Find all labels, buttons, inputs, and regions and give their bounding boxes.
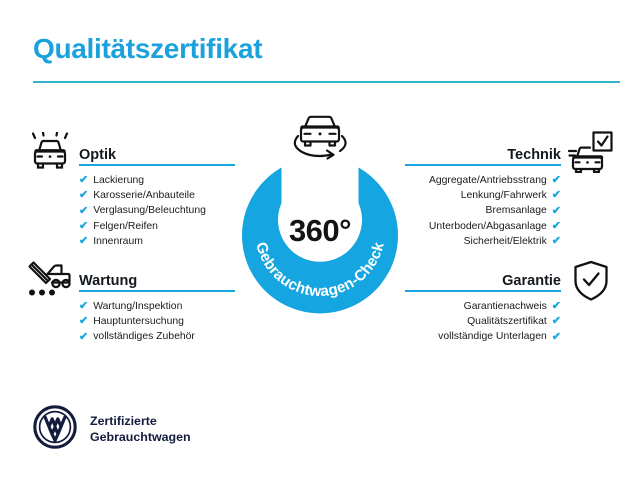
check-icon: ✔ — [552, 332, 561, 343]
check-icon: ✔ — [79, 332, 88, 343]
check-icon: ✔ — [552, 221, 561, 232]
list-item: ✔Felgen/Reifen — [79, 219, 235, 234]
list-item: Qualitätszertifikat✔ — [405, 314, 561, 329]
list-item-label: Lackierung — [93, 173, 144, 188]
list-item-label: vollständiges Zubehör — [93, 329, 195, 344]
list-item: Bremsanlage✔ — [405, 203, 561, 218]
car-shine-icon — [28, 132, 72, 179]
vw-footer-line1: Zertifizierte — [90, 414, 191, 430]
check-icon: ✔ — [79, 316, 88, 327]
vw-footer-text: Zertifizierte Gebrauchtwagen — [90, 414, 191, 445]
section-wartung: Wartung ✔Wartung/Inspektion ✔Hauptunters… — [79, 266, 235, 345]
section-garantie: Garantie Garantienachweis✔ Qualitätszert… — [405, 266, 561, 345]
list-item: ✔Innenraum — [79, 234, 235, 249]
section-optik-title: Optik — [79, 147, 116, 163]
check-icon: ✔ — [79, 190, 88, 201]
section-wartung-header: Wartung — [79, 266, 235, 290]
list-item: vollständige Unterlagen✔ — [405, 329, 561, 344]
list-item-label: Unterboden/Abgasanlage — [429, 219, 547, 234]
check-icon: ✔ — [552, 236, 561, 247]
certificate-page: Qualitätszertifikat Optik ✔Lackierung ✔K… — [0, 0, 640, 480]
car-checkbox-icon — [567, 131, 613, 178]
check-icon: ✔ — [79, 175, 88, 186]
shield-check-icon — [572, 260, 610, 307]
section-garantie-title: Garantie — [502, 273, 561, 289]
check-icon: ✔ — [79, 206, 88, 217]
list-item: ✔Karosserie/Anbauteile — [79, 188, 235, 203]
section-technik: Technik Aggregate/Antriebsstrang✔ Lenkun… — [405, 140, 561, 249]
vw-certified-footer: Zertifizierte Gebrauchtwagen — [33, 405, 191, 454]
check-icon: ✔ — [552, 316, 561, 327]
list-item: ✔Verglasung/Beleuchtung — [79, 203, 235, 218]
section-wartung-list: ✔Wartung/Inspektion ✔Hauptuntersuchung ✔… — [79, 299, 235, 345]
section-garantie-list: Garantienachweis✔ Qualitätszertifikat✔ v… — [405, 299, 561, 345]
list-item-label: Hauptuntersuchung — [93, 314, 184, 329]
check-icon: ✔ — [79, 221, 88, 232]
section-technik-divider — [405, 164, 561, 166]
section-technik-list: Aggregate/Antriebsstrang✔ Lenkung/Fahrwe… — [405, 173, 561, 249]
section-optik: Optik ✔Lackierung ✔Karosserie/Anbauteile… — [79, 140, 235, 249]
section-optik-divider — [79, 164, 235, 166]
section-optik-header: Optik — [79, 140, 235, 164]
list-item-label: Garantienachweis — [464, 299, 547, 314]
list-item-label: Lenkung/Fahrwerk — [461, 188, 547, 203]
section-technik-title: Technik — [507, 147, 561, 163]
check-icon: ✔ — [552, 206, 561, 217]
vw-logo — [33, 405, 77, 454]
list-item: Sicherheit/Elektrik✔ — [405, 234, 561, 249]
section-garantie-divider — [405, 290, 561, 292]
list-item: Unterboden/Abgasanlage✔ — [405, 219, 561, 234]
list-item: Aggregate/Antriebsstrang✔ — [405, 173, 561, 188]
check-icon: ✔ — [552, 301, 561, 312]
check-icon: ✔ — [79, 236, 88, 247]
check-icon: ✔ — [552, 175, 561, 186]
list-item-label: Qualitätszertifikat — [467, 314, 547, 329]
list-item: ✔Wartung/Inspektion — [79, 299, 235, 314]
badge-360-gebrauchtwagen-check: Gebrauchtwagen-Check 360° — [229, 140, 411, 322]
list-item: ✔vollständiges Zubehör — [79, 329, 235, 344]
vw-footer-line2: Gebrauchtwagen — [90, 430, 191, 446]
list-item-label: Aggregate/Antriebsstrang — [429, 173, 547, 188]
section-optik-list: ✔Lackierung ✔Karosserie/Anbauteile ✔Verg… — [79, 173, 235, 249]
list-item-label: Felgen/Reifen — [93, 219, 158, 234]
list-item-label: Bremsanlage — [486, 203, 547, 218]
section-wartung-title: Wartung — [79, 273, 137, 289]
section-garantie-header: Garantie — [405, 266, 561, 290]
list-item-label: Innenraum — [93, 234, 143, 249]
list-item-label: Karosserie/Anbauteile — [93, 188, 195, 203]
list-item: ✔Lackierung — [79, 173, 235, 188]
list-item-label: Wartung/Inspektion — [93, 299, 182, 314]
title-divider — [33, 81, 620, 83]
car-rotate-360-icon — [284, 113, 356, 165]
list-item: Garantienachweis✔ — [405, 299, 561, 314]
section-wartung-divider — [79, 290, 235, 292]
page-title: Qualitätszertifikat — [33, 33, 262, 65]
check-icon: ✔ — [552, 190, 561, 201]
list-item-label: Sicherheit/Elektrik — [464, 234, 547, 249]
list-item: Lenkung/Fahrwerk✔ — [405, 188, 561, 203]
section-technik-header: Technik — [405, 140, 561, 164]
list-item-label: vollständige Unterlagen — [438, 329, 547, 344]
check-icon: ✔ — [79, 301, 88, 312]
badge-ring: Gebrauchtwagen-Check — [229, 140, 411, 322]
list-item: ✔Hauptuntersuchung — [79, 314, 235, 329]
list-item-label: Verglasung/Beleuchtung — [93, 203, 206, 218]
car-service-tool-icon — [26, 260, 72, 305]
